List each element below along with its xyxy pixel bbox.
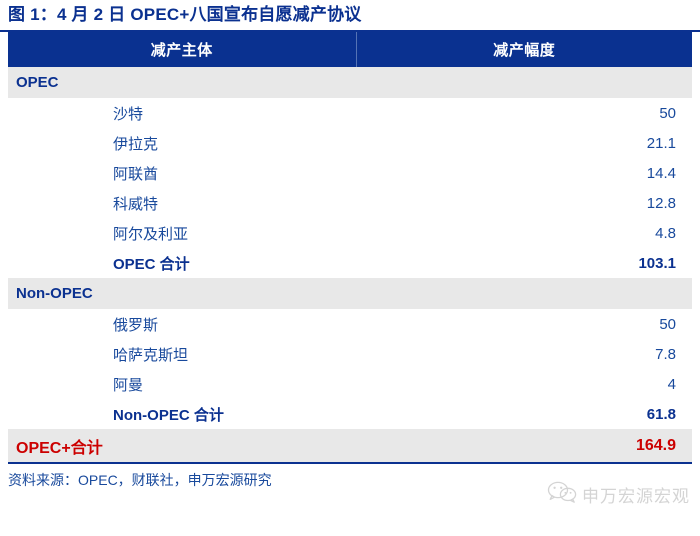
- subtotal-row: Non-OPEC 合计 61.8: [8, 399, 692, 429]
- source-note: 资料来源：OPEC，财联社，申万宏源研究: [0, 464, 700, 490]
- row-value: 50: [356, 309, 692, 339]
- subtotal-value: 61.8: [356, 399, 692, 429]
- table-header-row: 减产主体 减产幅度: [8, 32, 692, 67]
- row-label: 阿曼: [8, 369, 356, 399]
- group-empty-cell: [356, 278, 692, 309]
- table-header: 减产主体 减产幅度: [8, 32, 692, 67]
- table-row: 哈萨克斯坦 7.8: [8, 339, 692, 369]
- figure-container: 图 1：4 月 2 日 OPEC+八国宣布自愿减产协议 减产主体 减产幅度 OP…: [0, 0, 700, 536]
- grand-total-row: OPEC+合计 164.9: [8, 429, 692, 463]
- table-row: 沙特 50: [8, 98, 692, 128]
- table-row: 俄罗斯 50: [8, 309, 692, 339]
- group-name: Non-OPEC: [8, 278, 356, 309]
- row-value: 7.8: [356, 339, 692, 369]
- figure-title: 图 1：4 月 2 日 OPEC+八国宣布自愿减产协议: [0, 0, 700, 29]
- table-body: OPEC 沙特 50 伊拉克 21.1 阿联酋 14.4 科威特 12.: [8, 67, 692, 463]
- row-label: 阿尔及利亚: [8, 218, 356, 248]
- group-empty-cell: [356, 67, 692, 98]
- row-value: 4.8: [356, 218, 692, 248]
- group-name: OPEC: [8, 67, 356, 98]
- row-value: 12.8: [356, 188, 692, 218]
- subtotal-value: 103.1: [356, 248, 692, 278]
- row-label: 科威特: [8, 188, 356, 218]
- row-label: 沙特: [8, 98, 356, 128]
- table-row: 伊拉克 21.1: [8, 128, 692, 158]
- reduction-table: 减产主体 减产幅度 OPEC 沙特 50 伊拉克 21.1: [8, 32, 692, 464]
- grand-total-value: 164.9: [356, 429, 692, 463]
- row-value: 14.4: [356, 158, 692, 188]
- table-wrapper: 减产主体 减产幅度 OPEC 沙特 50 伊拉克 21.1: [0, 32, 700, 464]
- table-row: 科威特 12.8: [8, 188, 692, 218]
- group-header-row: Non-OPEC: [8, 278, 692, 309]
- row-label: 俄罗斯: [8, 309, 356, 339]
- column-header-amount: 减产幅度: [356, 32, 692, 67]
- column-header-subject: 减产主体: [8, 32, 356, 67]
- group-header-row: OPEC: [8, 67, 692, 98]
- subtotal-label: Non-OPEC 合计: [8, 399, 356, 429]
- row-label: 阿联酋: [8, 158, 356, 188]
- row-label: 伊拉克: [8, 128, 356, 158]
- table-row: 阿曼 4: [8, 369, 692, 399]
- row-value: 50: [356, 98, 692, 128]
- row-label: 哈萨克斯坦: [8, 339, 356, 369]
- table-row: 阿尔及利亚 4.8: [8, 218, 692, 248]
- table-row: 阿联酋 14.4: [8, 158, 692, 188]
- row-value: 21.1: [356, 128, 692, 158]
- subtotal-row: OPEC 合计 103.1: [8, 248, 692, 278]
- row-value: 4: [356, 369, 692, 399]
- grand-total-label: OPEC+合计: [8, 429, 356, 463]
- subtotal-label: OPEC 合计: [8, 248, 356, 278]
